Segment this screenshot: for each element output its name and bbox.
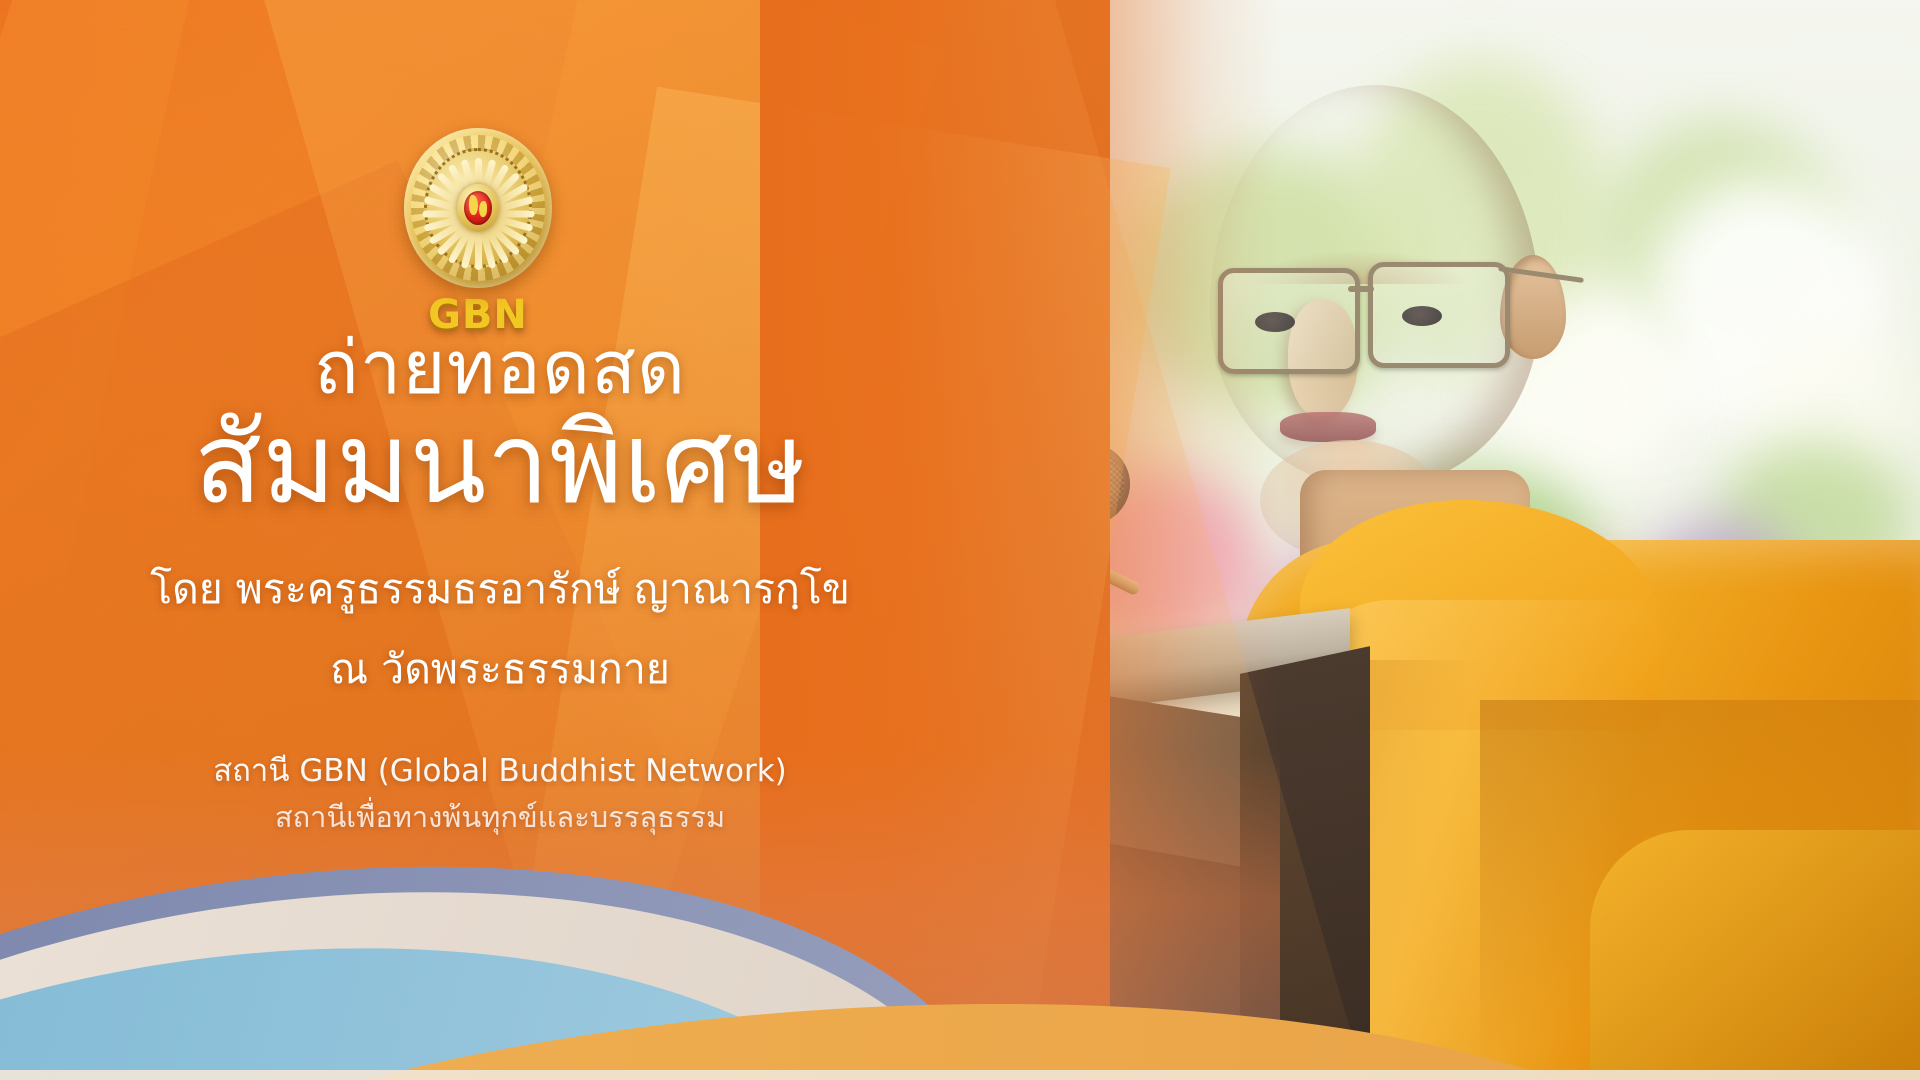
venue-line: ณ วัดพระธรรมกาย — [0, 641, 1000, 698]
dharma-wheel-icon — [404, 128, 552, 288]
eyeglasses-lens-right — [1368, 262, 1510, 368]
wheel-hub — [457, 184, 499, 232]
speaker-line: โดย พระครูธรรมธรอารักษ์ ญาณารกฺโข — [0, 561, 1000, 618]
bottom-haze — [0, 750, 1280, 1080]
monk-robe-sash — [1590, 830, 1920, 1080]
globe-icon — [464, 191, 492, 225]
page-title: สัมมนาพิเศษ — [0, 402, 1000, 527]
broadcast-title-card: GBN ถ่ายทอดสด สัมมนาพิเศษ โดย พระครูธรรม… — [0, 0, 1920, 1080]
eyeglasses-bridge — [1348, 286, 1374, 292]
gbn-logo[interactable]: GBN — [398, 128, 558, 318]
monk-mouth — [1280, 412, 1376, 442]
live-label: ถ่ายทอดสด — [0, 330, 1000, 408]
